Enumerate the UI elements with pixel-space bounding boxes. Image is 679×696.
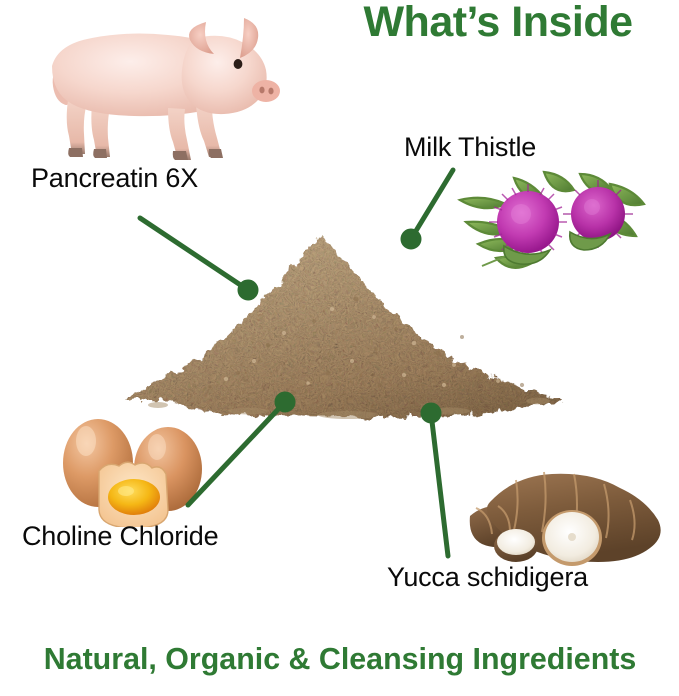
callout-label-milk-thistle: Milk Thistle [404, 132, 536, 163]
connector-line-yucca-schidigera [431, 413, 448, 556]
footer-tagline: Natural, Organic & Cleansing Ingredients [15, 641, 666, 677]
piglet-photo [28, 8, 280, 160]
callout-label-pancreatin: Pancreatin 6X [31, 163, 198, 194]
callout-label-choline-chloride: Choline Chloride [22, 521, 218, 552]
powder-pile [118, 225, 570, 425]
yucca-root-photo [468, 458, 664, 573]
page-title: What’s Inside [318, 0, 678, 48]
product-ingredients-infographic: What’s Inside Pancreatin 6X Milk Thistle… [0, 0, 679, 696]
eggs-photo [52, 415, 232, 527]
callout-label-yucca-schidigera: Yucca schidigera [387, 562, 588, 593]
